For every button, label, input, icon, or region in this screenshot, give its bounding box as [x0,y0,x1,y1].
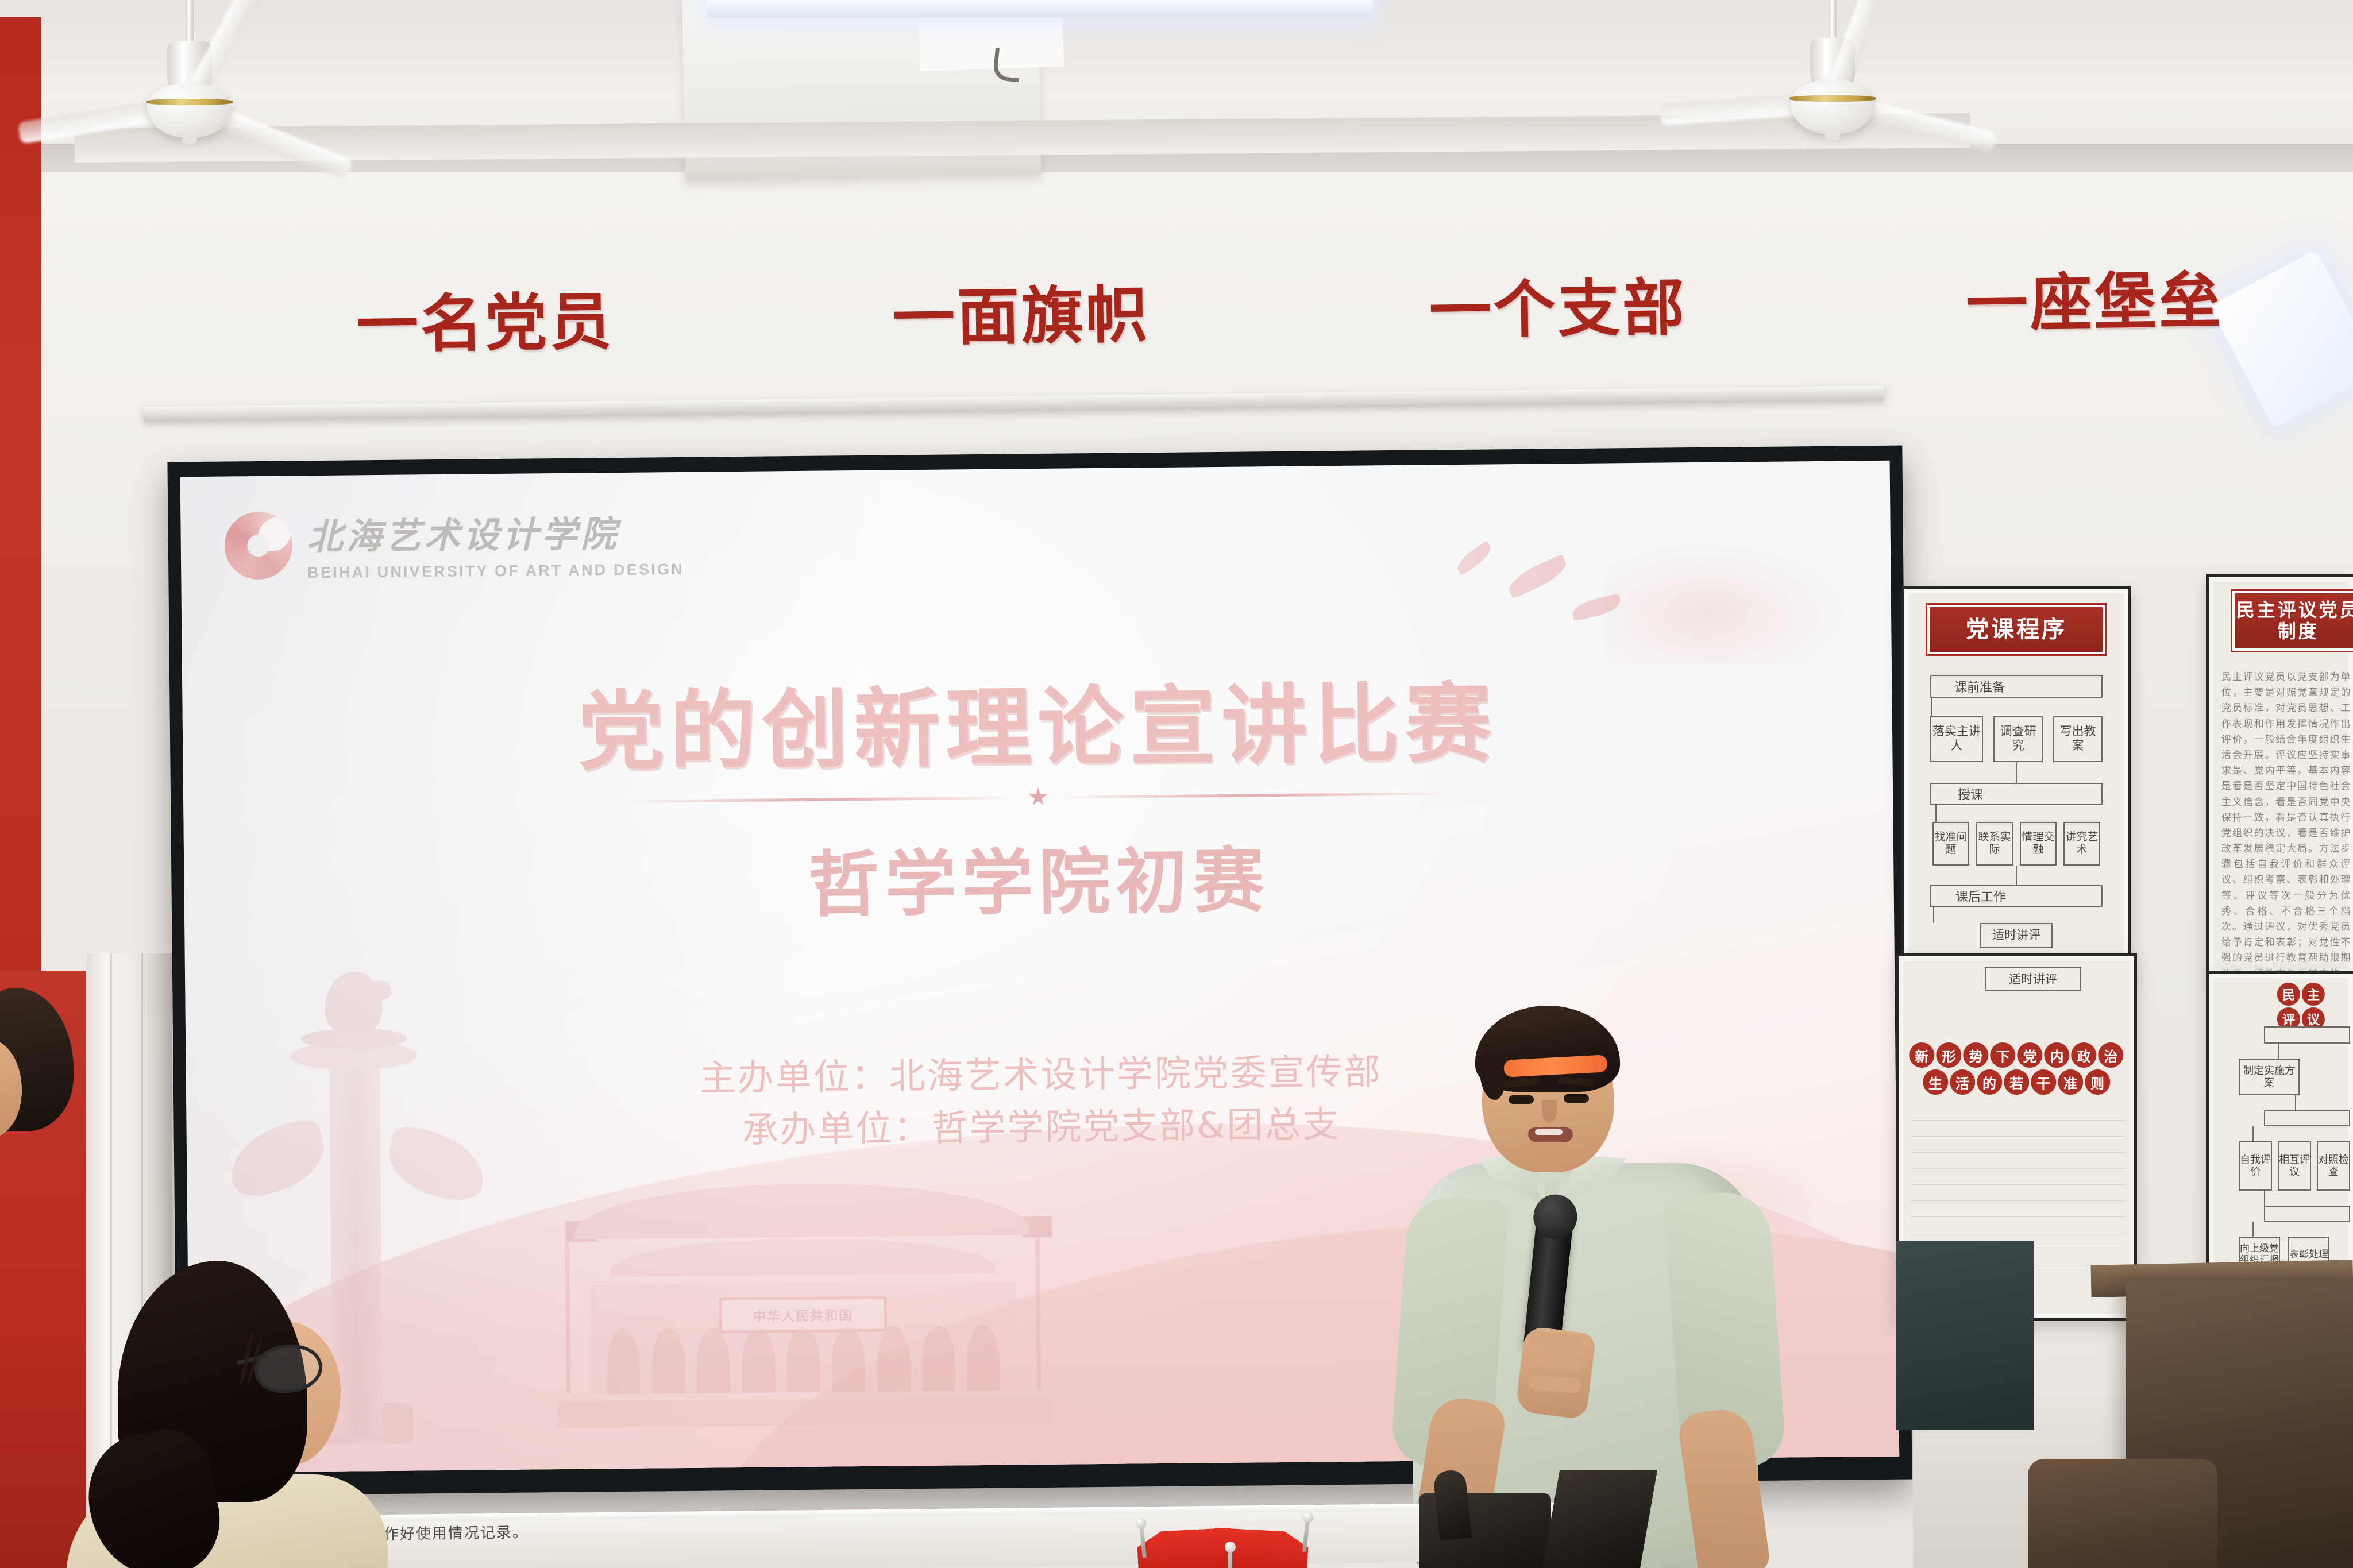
university-logo-icon [224,511,292,580]
poster-4-bar-2 [2264,1110,2350,1126]
poster-1-step-3a: 适时讲评 [1980,923,2053,948]
poster-1-step-2a: 找准问题 [1932,822,1969,866]
right-dark-panel [1896,1241,2034,1430]
poster-2-body: 民主评议党员以党支部为单位，主要是对照党章规定的党员标准，对党员思想、工作表现和… [2221,669,2351,976]
star-icon [1028,787,1048,807]
poster-4-stage-1: 制定实施方案 [2239,1059,2300,1095]
poster-1-stage-3: 课后工作 [1930,885,2103,907]
poster-party-class-procedure: 党课程序 课前准备 落实主讲人 调查研究 写出教案 授课 找准问题 联系实际 情… [1901,586,2131,988]
desk-flag-stand [1137,1516,1327,1568]
poster-1-stage-1: 课前准备 [1930,675,2103,698]
slide-logo: 北海艺术设计学院 BEIHAI UNIVERSITY OF ART AND DE… [224,504,684,583]
university-name-cn: 北海艺术设计学院 [307,504,684,559]
slide-subtitle: 哲学学院初赛 [184,817,1895,937]
university-name-en: BEIHAI UNIVERSITY OF ART AND DESIGN [307,561,684,582]
poster-4-heading-ribbon: 民 主 评 议 [2275,983,2327,1030]
poster-4-bar-1 [2264,1026,2350,1044]
poster-1-step-1c: 写出教案 [2053,716,2103,762]
ceiling-light-tube-1 [707,0,1373,17]
poster-1-heading: 党课程序 [1927,605,2105,654]
slogan-phrase-4: 一座堡垒 [1965,271,2223,336]
slogan-phrase-1: 一名党员 [356,291,614,357]
slogan-phrase-2: 一面旗帜 [892,284,1150,350]
poster-1-step-1b: 调查研究 [1993,716,2043,762]
slogan-phrase-3: 一个支部 [1429,277,1687,343]
poster-1-step-1a: 落实主讲人 [1930,716,1983,762]
poster-1-step-2c: 情理交融 [2020,822,2057,866]
slide-title: 党的创新理论宣讲比赛 [182,650,1893,791]
poster-4-step-1c: 对照检查 [2317,1141,2350,1191]
poster-4-step-1b: 相互评议 [2278,1141,2311,1191]
poster-4-bar-3 [2264,1206,2350,1222]
classroom-scene: 一名党员 一面旗帜 一个支部 一座堡垒 [0,0,2353,1568]
poster-2-heading: 民主评议党员制度 [2232,591,2353,651]
poster-3-heading-ribbon: 新 形 势 下 党 内 政 治 生 活 的 若 干 准 则 [1905,1042,2127,1095]
audience-front-woman [101,1261,422,1568]
speaker-hair [1475,1006,1620,1092]
poster-3-prestage: 适时讲评 [1985,967,2081,991]
wooden-chair [2028,1459,2217,1568]
poster-1-step-2b: 联系实际 [1976,822,2013,866]
poster-1-step-2d: 讲究艺术 [2063,822,2100,866]
poster-1-stage-2: 授课 [1930,783,2103,805]
poster-4-step-1a: 自我评价 [2239,1141,2272,1191]
ceiling-fan-right [1712,0,1953,161]
ceiling-fan-left [69,0,310,164]
desk-object-panel [1542,1470,1657,1568]
poster-democratic-appraisal: 民主评议党员制度 民主评议党员以党支部为单位，主要是对照党章规定的党员标准，对党… [2206,574,2353,976]
